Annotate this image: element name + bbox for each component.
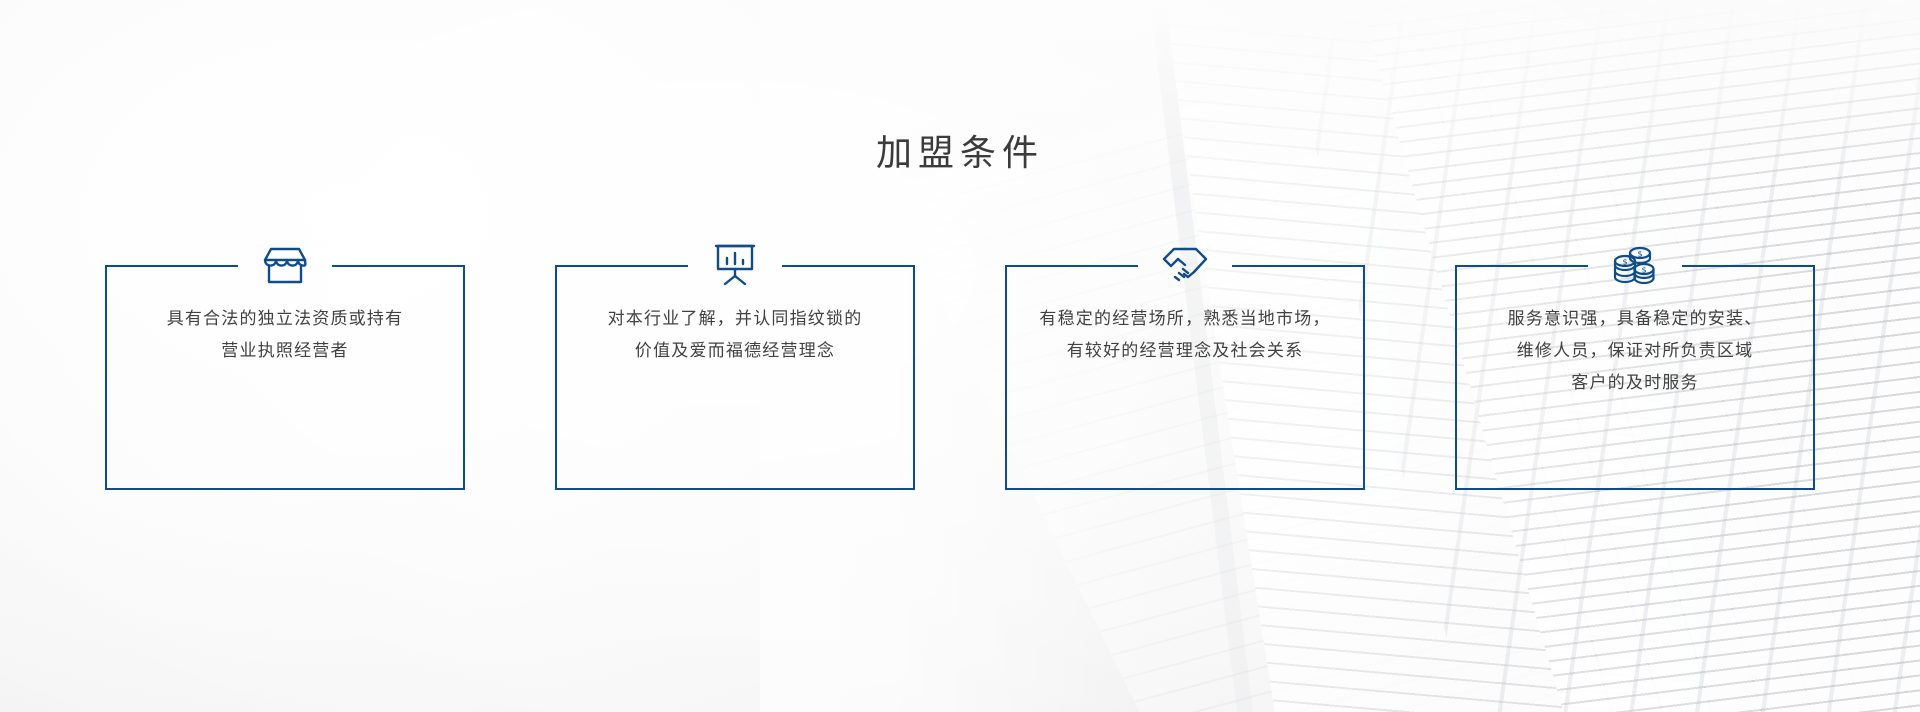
card-text-line: 营业执照经营者 bbox=[123, 335, 447, 367]
card-text: 对本行业了解，并认同指纹锁的 价值及爱而福德经营理念 bbox=[573, 303, 897, 367]
card-text: 有稳定的经营场所，熟悉当地市场， 有较好的经营理念及社会关系 bbox=[1023, 303, 1347, 367]
card-text-line: 有较好的经营理念及社会关系 bbox=[1023, 335, 1347, 367]
card-top-border-right bbox=[1232, 265, 1363, 267]
svg-text:$: $ bbox=[1641, 266, 1646, 275]
card-top-border-right bbox=[782, 265, 913, 267]
presentation-chart-icon bbox=[705, 236, 765, 294]
svg-text:$: $ bbox=[1622, 258, 1627, 267]
card-text: 具有合法的独立法资质或持有 营业执照经营者 bbox=[123, 303, 447, 367]
card-top-border-right bbox=[332, 265, 463, 267]
page-root: 加盟条件 具有合法的独立法资质或持有 营业执照经营者 bbox=[0, 0, 1920, 712]
svg-text:$: $ bbox=[1637, 250, 1642, 259]
card-text-line: 客户的及时服务 bbox=[1473, 367, 1797, 399]
card-text-line: 具有合法的独立法资质或持有 bbox=[123, 303, 447, 335]
coins-stack-icon: $ $ $ bbox=[1605, 236, 1665, 294]
storefront-icon bbox=[255, 236, 315, 294]
condition-card: 对本行业了解，并认同指纹锁的 价值及爱而福德经营理念 bbox=[555, 265, 915, 490]
page-title: 加盟条件 bbox=[0, 124, 1920, 176]
card-top-border-left bbox=[1457, 265, 1588, 267]
handshake-icon bbox=[1155, 236, 1215, 294]
condition-card: $ $ $ 服务意识强，具备稳定的安装、 维修 bbox=[1455, 265, 1815, 490]
card-text-line: 对本行业了解，并认同指纹锁的 bbox=[573, 303, 897, 335]
card-text-line: 价值及爱而福德经营理念 bbox=[573, 335, 897, 367]
card-text-line: 服务意识强，具备稳定的安装、 bbox=[1473, 303, 1797, 335]
content-layer: 加盟条件 具有合法的独立法资质或持有 营业执照经营者 bbox=[0, 0, 1920, 712]
card-text-line: 有稳定的经营场所，熟悉当地市场， bbox=[1023, 303, 1347, 335]
condition-card: 有稳定的经营场所，熟悉当地市场， 有较好的经营理念及社会关系 bbox=[1005, 265, 1365, 490]
condition-card: 具有合法的独立法资质或持有 营业执照经营者 bbox=[105, 265, 465, 490]
card-text-line: 维修人员，保证对所负责区域 bbox=[1473, 335, 1797, 367]
card-top-border-left bbox=[1007, 265, 1138, 267]
card-top-border-left bbox=[107, 265, 238, 267]
card-top-border-left bbox=[557, 265, 688, 267]
condition-card-list: 具有合法的独立法资质或持有 营业执照经营者 bbox=[105, 265, 1815, 490]
card-text: 服务意识强，具备稳定的安装、 维修人员，保证对所负责区域 客户的及时服务 bbox=[1473, 303, 1797, 399]
card-top-border-right bbox=[1682, 265, 1813, 267]
